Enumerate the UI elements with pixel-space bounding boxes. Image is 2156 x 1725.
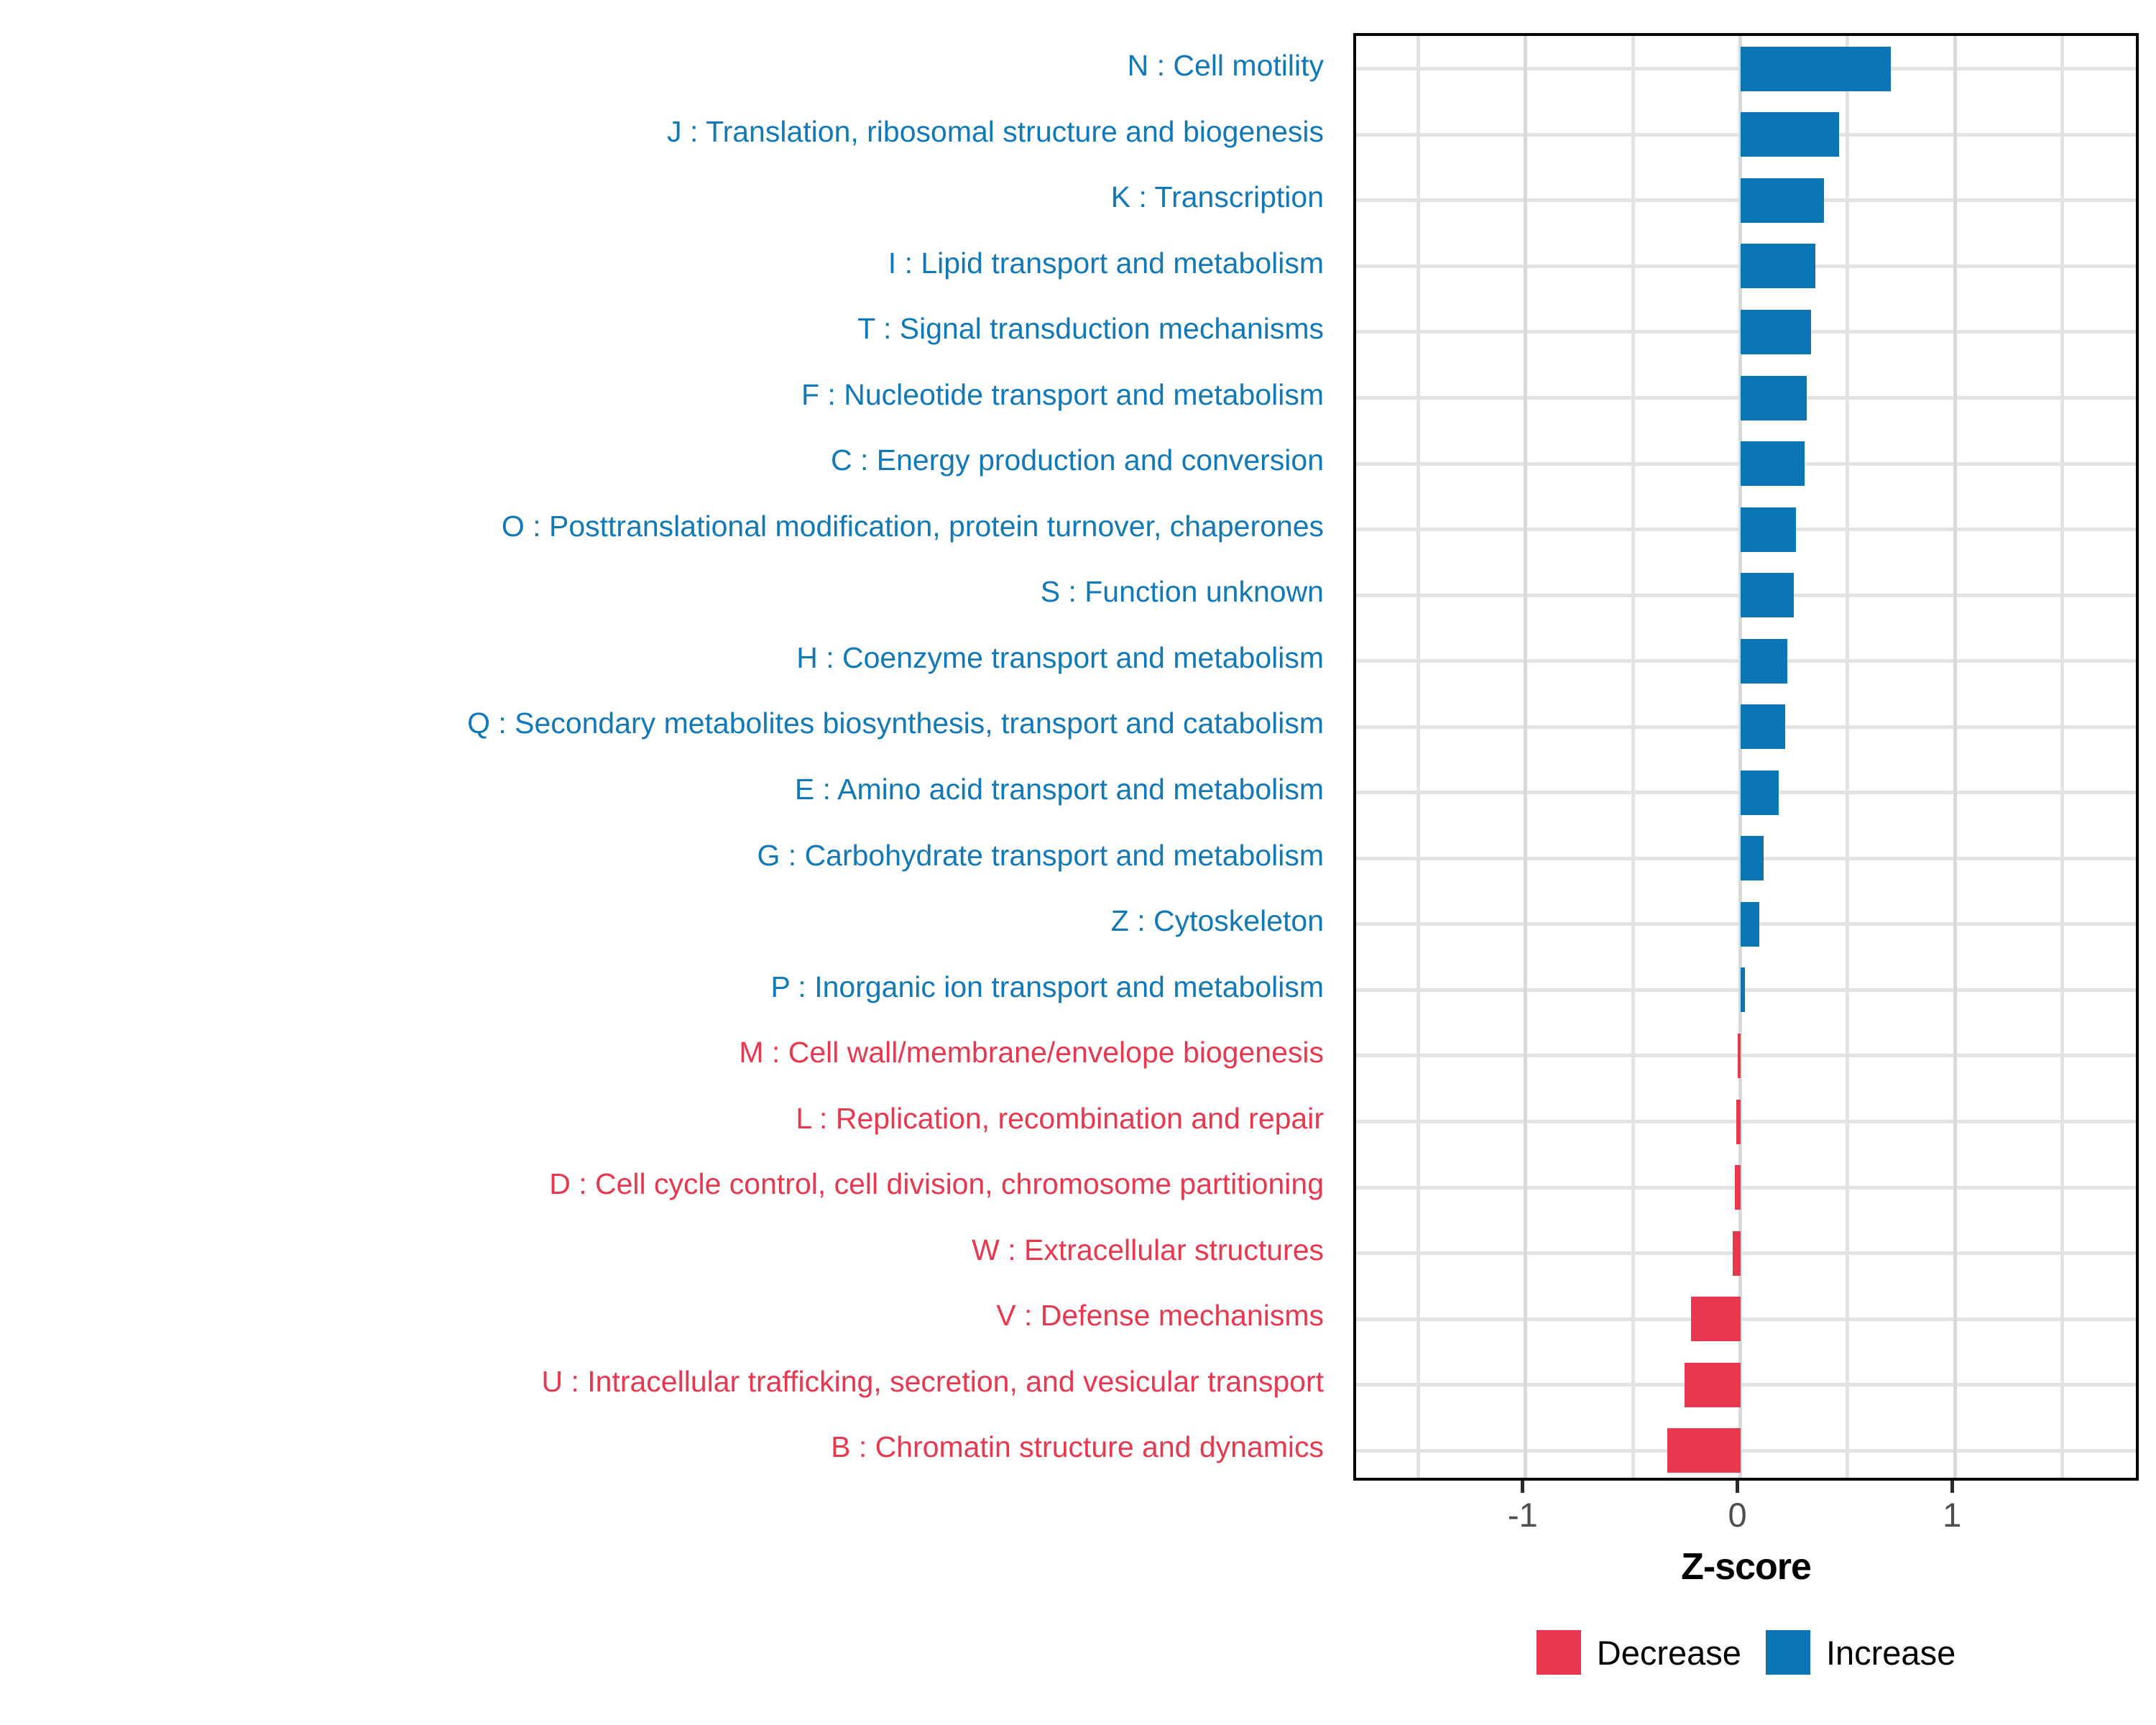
gridline-vertical-major bbox=[1953, 36, 1957, 1478]
bar[interactable] bbox=[1691, 1297, 1741, 1341]
bar[interactable] bbox=[1741, 376, 1807, 420]
y-axis-tick-label: P : Inorganic ion transport and metaboli… bbox=[770, 954, 1337, 1021]
gridline-vertical-major bbox=[1524, 36, 1527, 1478]
y-axis-tick-label: C : Energy production and conversion bbox=[831, 428, 1337, 494]
gridline-horizontal bbox=[1356, 1317, 2136, 1321]
bar[interactable] bbox=[1741, 573, 1795, 617]
bar[interactable] bbox=[1741, 310, 1812, 354]
bar[interactable] bbox=[1741, 836, 1764, 880]
plot-panel bbox=[1353, 33, 2139, 1481]
y-axis-tick-label: G : Carbohydrate transport and metabolis… bbox=[757, 823, 1337, 889]
bar[interactable] bbox=[1741, 704, 1786, 749]
bar[interactable] bbox=[1741, 244, 1816, 288]
y-axis-tick-label: I : Lipid transport and metabolism bbox=[888, 231, 1337, 297]
gridline-horizontal bbox=[1356, 1383, 2136, 1386]
bar[interactable] bbox=[1741, 112, 1839, 157]
x-axis-tick-mark bbox=[1521, 1481, 1524, 1493]
gridline-horizontal bbox=[1356, 1186, 2136, 1190]
x-axis-title: Z-score bbox=[1353, 1545, 2139, 1588]
bar[interactable] bbox=[1667, 1428, 1741, 1473]
gridline-horizontal bbox=[1356, 1449, 2136, 1453]
bar[interactable] bbox=[1736, 1100, 1740, 1144]
chart-legend: Decrease Increase bbox=[1353, 1630, 2139, 1675]
y-axis-tick-label: D : Cell cycle control, cell division, c… bbox=[549, 1151, 1337, 1218]
legend-label-increase: Increase bbox=[1826, 1633, 1955, 1673]
y-axis-tick-label: T : Signal transduction mechanisms bbox=[857, 296, 1337, 362]
y-axis-tick-label: S : Function unknown bbox=[1041, 559, 1337, 625]
x-axis-tick-mark bbox=[1736, 1481, 1739, 1493]
x-axis-tick-label: 0 bbox=[1728, 1495, 1746, 1535]
y-axis-tick-label: V : Defense mechanisms bbox=[996, 1283, 1337, 1349]
gridline-vertical-minor bbox=[2060, 36, 2064, 1478]
x-axis-tick-label: -1 bbox=[1508, 1495, 1538, 1535]
gridline-vertical-minor bbox=[1846, 36, 1849, 1478]
bar[interactable] bbox=[1741, 770, 1779, 815]
y-axis-tick-label: Q : Secondary metabolites biosynthesis, … bbox=[467, 691, 1337, 757]
gridline-horizontal bbox=[1356, 1251, 2136, 1255]
y-axis-category-labels: N : Cell motilityJ : Translation, riboso… bbox=[0, 33, 1337, 1481]
y-axis-tick-label: L : Replication, recombination and repai… bbox=[796, 1086, 1337, 1152]
bar[interactable] bbox=[1685, 1363, 1741, 1407]
y-axis-tick-label: J : Translation, ribosomal structure and… bbox=[667, 99, 1337, 165]
x-axis-tick-label: 1 bbox=[1943, 1495, 1961, 1535]
y-axis-tick-label: K : Transcription bbox=[1111, 165, 1337, 231]
legend-label-decrease: Decrease bbox=[1597, 1633, 1741, 1673]
gridline-vertical-minor bbox=[1416, 36, 1420, 1478]
bar[interactable] bbox=[1738, 1034, 1741, 1078]
gridline-horizontal bbox=[1356, 1054, 2136, 1057]
bar[interactable] bbox=[1741, 47, 1891, 91]
chart-figure: N : Cell motilityJ : Translation, riboso… bbox=[0, 0, 2156, 1725]
gridline-vertical-minor bbox=[1631, 36, 1635, 1478]
bar[interactable] bbox=[1741, 441, 1805, 486]
bar[interactable] bbox=[1741, 639, 1788, 684]
y-axis-tick-label: H : Coenzyme transport and metabolism bbox=[796, 625, 1337, 691]
decrease-swatch-icon bbox=[1537, 1630, 1581, 1675]
bar[interactable] bbox=[1741, 507, 1797, 552]
bar[interactable] bbox=[1741, 967, 1745, 1012]
legend-item-decrease[interactable]: Decrease bbox=[1537, 1630, 1741, 1675]
y-axis-tick-label: U : Intracellular trafficking, secretion… bbox=[541, 1349, 1337, 1415]
bar[interactable] bbox=[1741, 902, 1760, 947]
bar[interactable] bbox=[1733, 1231, 1741, 1276]
bar[interactable] bbox=[1735, 1165, 1740, 1210]
gridline-horizontal bbox=[1356, 1120, 2136, 1123]
plot-area bbox=[1356, 36, 2136, 1478]
y-axis-tick-label: B : Chromatin structure and dynamics bbox=[831, 1414, 1337, 1481]
y-axis-tick-label: N : Cell motility bbox=[1128, 33, 1337, 99]
y-axis-tick-label: O : Posttranslational modification, prot… bbox=[502, 494, 1337, 560]
y-axis-tick-label: Z : Cytoskeleton bbox=[1111, 888, 1337, 954]
x-axis-tick-mark bbox=[1950, 1481, 1954, 1493]
y-axis-tick-label: M : Cell wall/membrane/envelope biogenes… bbox=[739, 1020, 1337, 1086]
y-axis-tick-label: W : Extracellular structures bbox=[972, 1218, 1337, 1284]
gridline-horizontal bbox=[1356, 988, 2136, 992]
bar[interactable] bbox=[1741, 178, 1824, 223]
legend-item-increase[interactable]: Increase bbox=[1766, 1630, 1955, 1675]
y-axis-tick-label: E : Amino acid transport and metabolism bbox=[795, 757, 1337, 823]
y-axis-tick-label: F : Nucleotide transport and metabolism bbox=[801, 362, 1337, 428]
increase-swatch-icon bbox=[1766, 1630, 1810, 1675]
